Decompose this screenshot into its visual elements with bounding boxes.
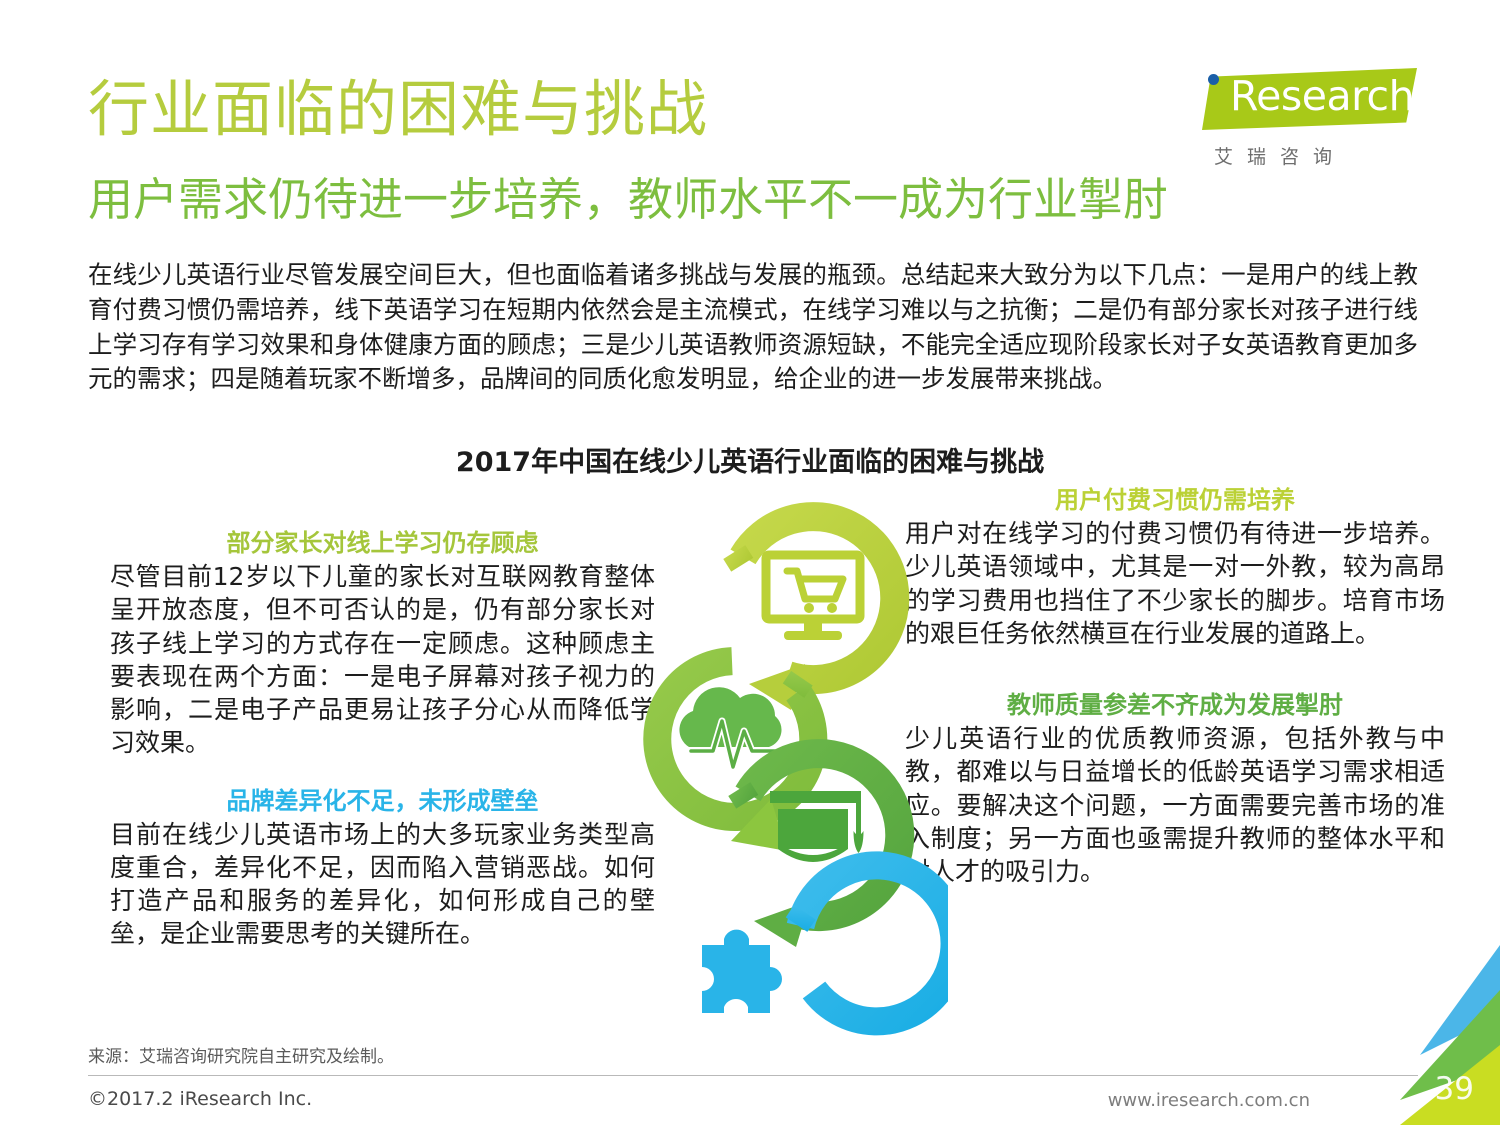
slide-page: Research 艾瑞咨询 行业面临的困难与挑战 用户需求仍待进一步培养，教师水… [0,0,1500,1125]
cycle-diagram [618,483,948,1063]
page-title: 行业面临的困难与挑战 [88,78,708,142]
corner-green-shape [1400,990,1500,1100]
iresearch-logo: Research 艾瑞咨询 [1172,68,1422,176]
block-heading: 品牌差异化不足，未形成壁垒 [110,786,655,816]
block-heading: 用户付费习惯仍需培养 [905,485,1445,515]
monitor-cart-icon [766,555,860,640]
corner-lime-shape [1400,1045,1500,1125]
column-spacer [110,760,655,786]
figure-title: 2017年中国在线少儿英语行业面临的困难与挑战 [0,440,1500,479]
block-body: 少儿英语行业的优质教师资源，包括外教与中教，都难以与日益增长的低龄英语学习需求相… [905,722,1445,888]
block-heading: 教师质量参差不齐成为发展掣肘 [905,690,1445,720]
column-spacer [905,650,1445,690]
block-body: 目前在线少儿英语市场上的大多玩家业务类型高度重合，差异化不足，因而陷入营销恶战。… [110,818,655,951]
source-note: 来源：艾瑞咨询研究院自主研究及绘制。 [88,1042,394,1067]
copyright-text: ©2017.2 iResearch Inc. [88,1088,312,1110]
logo-badge: Research [1202,68,1417,130]
block-payment-habits: 用户付费习惯仍需培养 用户对在线学习的付费习惯仍有待进一步培养。少儿英语领域中，… [905,485,1445,650]
puzzle-piece-icon [702,930,782,1013]
intro-paragraph: 在线少儿英语行业尽管发展空间巨大，但也面临着诸多挑战与发展的瓶颈。总结起来大致分… [88,258,1418,397]
block-body: 用户对在线学习的付费习惯仍有待进一步培养。少儿英语领域中，尤其是一对一外教，较为… [905,517,1445,650]
corner-blue-shape [1420,945,1500,1055]
page-number: 39 [1435,1071,1474,1107]
logo-i-stem-icon [1210,89,1218,125]
corner-decoration: 39 [1380,945,1500,1125]
page-subtitle: 用户需求仍待进一步培养，教师水平不一成为行业掣肘 [88,175,1168,225]
logo-i-dot-icon [1208,74,1219,85]
block-body: 尽管目前12岁以下儿童的家长对互联网教育整体呈开放态度，但不可否认的是，仍有部分… [110,560,655,760]
footer-divider [88,1075,1418,1076]
website-url: www.iresearch.com.cn [1108,1090,1310,1111]
logo-wordmark: Research [1230,72,1414,120]
left-column: 部分家长对线上学习仍存顾虑 尽管目前12岁以下儿童的家长对互联网教育整体呈开放态… [110,528,655,951]
block-heading: 部分家长对线上学习仍存顾虑 [110,528,655,558]
cycle-node-1 [723,517,895,710]
graduation-cap-icon [770,791,864,862]
right-column: 用户付费习惯仍需培养 用户对在线学习的付费习惯仍有待进一步培养。少儿英语领域中，… [905,485,1445,888]
block-parent-concerns: 部分家长对线上学习仍存顾虑 尽管目前12岁以下儿童的家长对互联网教育整体呈开放态… [110,528,655,760]
logo-chinese-name: 艾瑞咨询 [1214,142,1422,169]
block-teacher-quality: 教师质量参差不齐成为发展掣肘 少儿英语行业的优质教师资源，包括外教与中教，都难以… [905,690,1445,888]
block-brand-differentiation: 品牌差异化不足，未形成壁垒 目前在线少儿英语市场上的大多玩家业务类型高度重合，差… [110,786,655,951]
